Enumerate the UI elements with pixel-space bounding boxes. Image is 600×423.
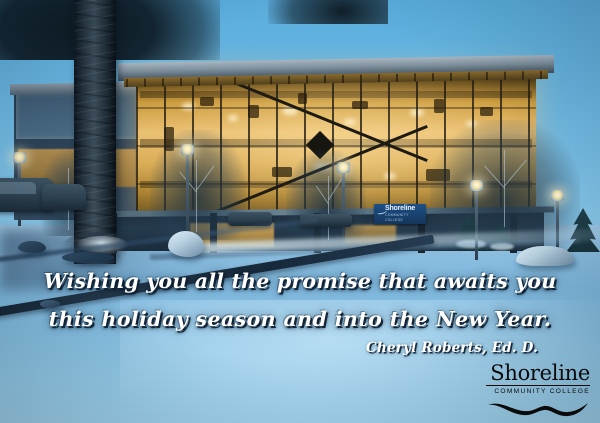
tree-twig <box>328 176 329 240</box>
lamp-post-light <box>470 180 483 191</box>
lamp-post-light <box>181 144 194 155</box>
greeting-line-1: Wishing you all the promise that awaits … <box>0 262 600 300</box>
lamp-post-light <box>337 162 350 173</box>
wave-swoosh-icon <box>486 400 590 418</box>
tree-twig <box>504 150 505 238</box>
logo-wordmark: Shoreline <box>486 362 590 385</box>
signature-name: Cheryl Roberts, Ed. D. <box>366 340 538 356</box>
shoreline-logo: Shoreline COMMUNITY COLLEGE <box>486 362 590 418</box>
holiday-greeting-card: Shoreline COMMUNITY COLLEGE <box>0 0 600 423</box>
greeting-line-2: this holiday season and into the New Yea… <box>0 300 600 338</box>
snow-debris <box>18 241 46 253</box>
tree-twig <box>196 160 197 232</box>
bare-tree <box>286 150 366 242</box>
snow-covered-rock <box>168 231 204 257</box>
lamp-post-light <box>13 152 26 163</box>
lamp-post-light <box>551 190 564 201</box>
lamp-post-pole <box>186 150 189 242</box>
building-sign-title: Shoreline <box>385 205 426 213</box>
car-window <box>0 182 36 194</box>
parked-car <box>42 184 86 210</box>
lamp-post-pole <box>475 186 478 260</box>
tree-canopy-top <box>268 0 388 24</box>
building-sign-subtitle: COMMUNITY COLLEGE <box>385 213 426 223</box>
logo-subtitle: COMMUNITY COLLEGE <box>486 385 590 396</box>
greeting-message: Wishing you all the promise that awaits … <box>0 262 600 338</box>
tree-bark-texture <box>74 0 116 264</box>
lamp-post-pole <box>342 168 345 244</box>
